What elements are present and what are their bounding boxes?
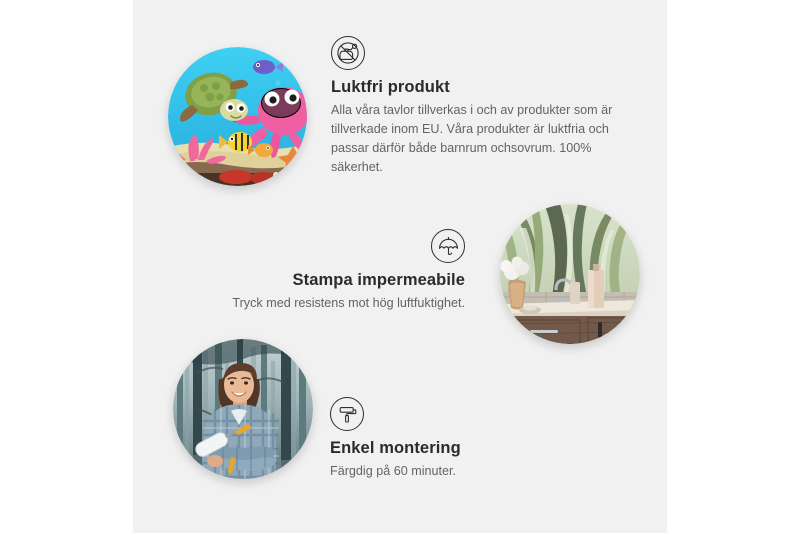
no-perfume-icon bbox=[331, 36, 365, 70]
feature-easy-mounting: Enkel montering Färgdig på 60 minuter. bbox=[330, 397, 620, 481]
feature-odour-free: Luktfri produkt Alla våra tavlor tillver… bbox=[331, 36, 631, 177]
feature-body: Alla våra tavlor tillverkas i och av pro… bbox=[331, 101, 631, 178]
feature-title: Luktfri produkt bbox=[331, 77, 631, 98]
feature-title: Stampa impermeabile bbox=[165, 270, 465, 291]
photo-kids-underwater bbox=[168, 47, 307, 186]
feature-body: Tryck med resistens mot hög luftfuktighe… bbox=[165, 294, 465, 313]
paint-roller-icon bbox=[330, 397, 364, 431]
photo-painter-forest bbox=[173, 339, 313, 479]
feature-body: Färgdig på 60 minuter. bbox=[330, 462, 620, 481]
feature-title: Enkel montering bbox=[330, 438, 620, 459]
feature-waterproof: Stampa impermeabile Tryck med resistens … bbox=[165, 229, 465, 313]
photo-bathroom-tropical bbox=[500, 204, 640, 344]
promo-graphic: Luktfri produkt Alla våra tavlor tillver… bbox=[0, 0, 800, 533]
umbrella-icon bbox=[431, 229, 465, 263]
